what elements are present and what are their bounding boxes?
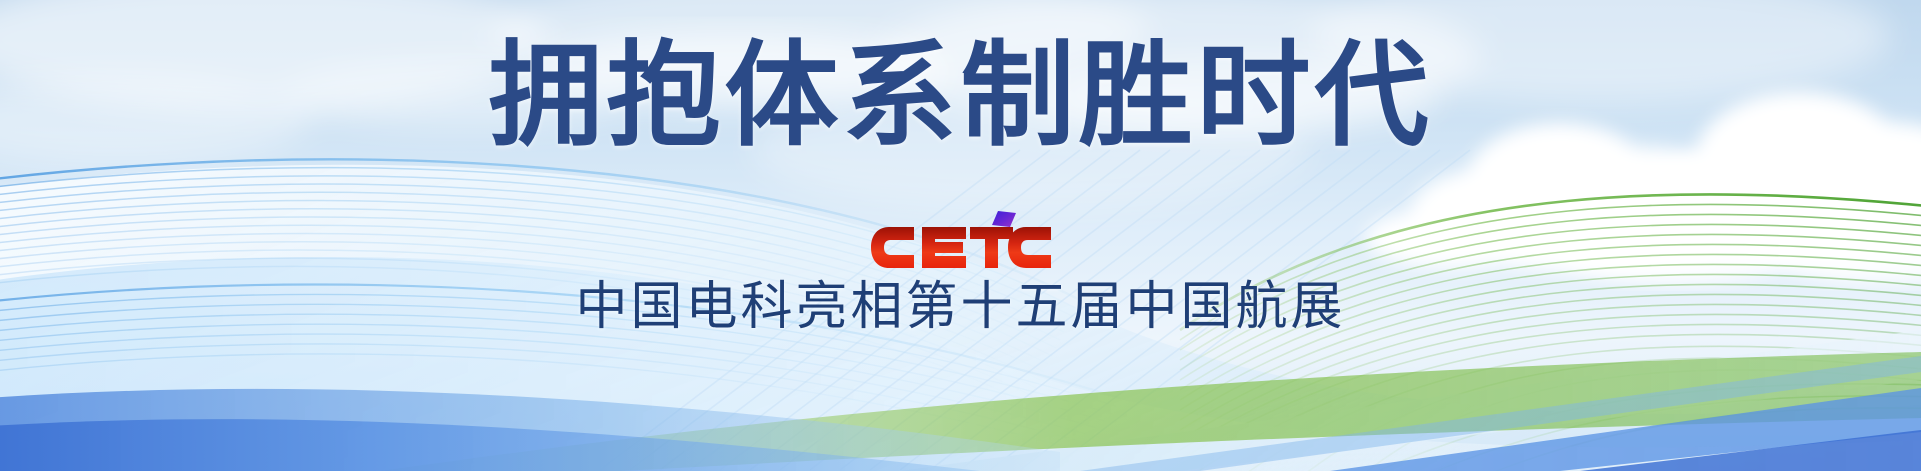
- letter-c-second: [1008, 227, 1051, 268]
- logo-container: [0, 196, 1921, 288]
- letter-e: [922, 227, 966, 268]
- page-title: 拥抱体系制胜时代: [0, 36, 1921, 156]
- letter-c-first: [871, 227, 914, 268]
- cetc-airshow-banner: 拥抱体系制胜时代: [0, 0, 1921, 471]
- cetc-logo: [870, 211, 1052, 273]
- cetc-wordmark: [871, 227, 1051, 268]
- banner-content: 拥抱体系制胜时代: [0, 0, 1921, 471]
- violet-parallelogram-accent: [992, 211, 1016, 227]
- letter-t: [970, 227, 1013, 268]
- banner-subtitle: 中国电科亮相第十五届中国航展: [0, 278, 1921, 338]
